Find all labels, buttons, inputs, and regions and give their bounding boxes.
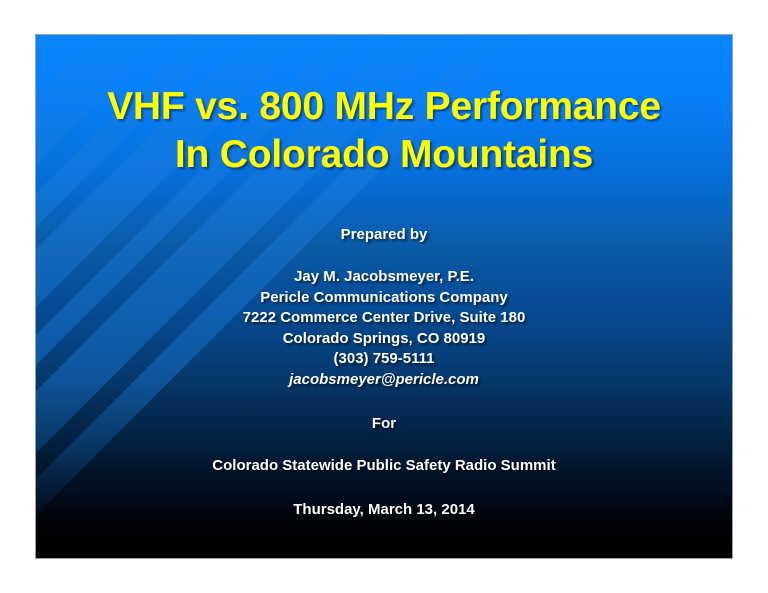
phone-number: (303) 759-5111: [36, 349, 732, 370]
event-name: Colorado Statewide Public Safety Radio S…: [36, 456, 732, 476]
event-date: Thursday, March 13, 2014: [36, 500, 732, 520]
prepared-by-label: Prepared by: [36, 225, 732, 245]
address-street: 7222 Commerce Center Drive, Suite 180: [36, 308, 732, 329]
author-affiliation-block: Jay M. Jacobsmeyer, P.E. Pericle Communi…: [36, 267, 732, 390]
address-city-state-zip: Colorado Springs, CO 80919: [36, 329, 732, 350]
slide-page: VHF vs. 800 MHz Performance In Colorado …: [0, 0, 768, 593]
title-slide: VHF vs. 800 MHz Performance In Colorado …: [35, 34, 733, 559]
email-address: jacobsmeyer@pericle.com: [36, 370, 732, 391]
slide-title-line-2: In Colorado Mountains: [36, 131, 732, 179]
slide-title-line-1: VHF vs. 800 MHz Performance: [36, 83, 732, 131]
company-name: Pericle Communications Company: [36, 288, 732, 309]
slide-body: Prepared by Jay M. Jacobsmeyer, P.E. Per…: [36, 225, 732, 520]
slide-content: VHF vs. 800 MHz Performance In Colorado …: [36, 35, 732, 558]
slide-title: VHF vs. 800 MHz Performance In Colorado …: [36, 83, 732, 179]
for-label: For: [36, 414, 732, 434]
author-name: Jay M. Jacobsmeyer, P.E.: [36, 267, 732, 288]
